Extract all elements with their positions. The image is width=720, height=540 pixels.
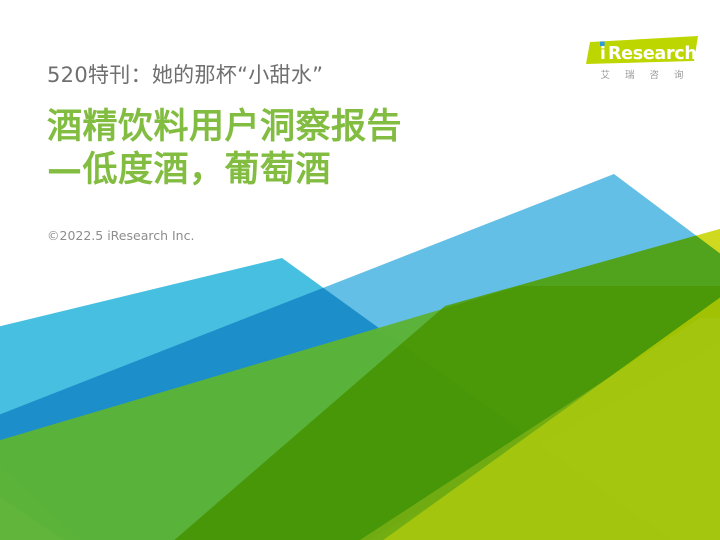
iresearch-logo: i Research 艾 瑞 咨 询 [586, 36, 698, 82]
copyright-notice: ©2022.5 iResearch Inc. [47, 228, 402, 244]
page-title-line-1: 酒精饮料用户洞察报告 [47, 107, 402, 148]
logo-research-text: Research [608, 44, 697, 64]
title-block: 520特刊：她的那杯“小甜水” 酒精饮料用户洞察报告 —低度酒，葡萄酒 ©202… [47, 60, 402, 244]
page-title-line-2: —低度酒，葡萄酒 [47, 150, 402, 191]
slide-subtitle: 520特刊：她的那杯“小甜水” [47, 60, 402, 90]
logo-i-stem: i [600, 44, 606, 64]
presentation-title-slide: i Research 艾 瑞 咨 询 520特刊：她的那杯“小甜水” 酒精饮料用… [0, 0, 720, 540]
logo-wordmark: i Research [586, 36, 698, 66]
logo-chinese-name: 艾 瑞 咨 询 [586, 69, 698, 82]
